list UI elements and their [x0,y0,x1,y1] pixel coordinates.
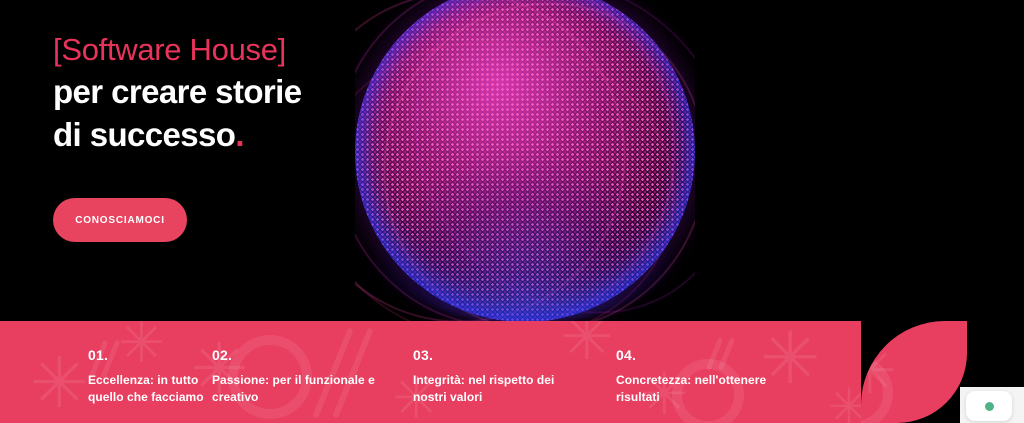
value-item-number: 03. [413,347,611,363]
hero-kicker: [Software House] [53,30,383,70]
chat-widget-button[interactable] [966,391,1012,421]
value-item-number: 02. [212,347,408,363]
value-item-text: Eccellenza: in tutto quello che facciamo [88,372,205,406]
value-item-text: Integrità: nel rispetto dei nostri valor… [413,372,585,406]
hero-copy: [Software House] per creare storie di su… [53,30,383,156]
online-status-icon [985,402,994,411]
value-item: 04. Concretezza: nell'ottenere risultati [611,321,861,423]
hero-headline-line-2-text: di successo [53,116,235,153]
value-item-number: 01. [88,347,205,363]
values-list: 01. Eccellenza: in tutto quello che facc… [0,321,861,423]
hero-headline-line-2: di successo. [53,113,383,156]
value-item-number: 04. [616,347,861,363]
value-item: 02. Passione: per il funzionale e creati… [205,321,408,423]
particle-sphere-graphic [355,0,695,327]
value-item-text: Passione: per il funzionale e creativo [212,372,384,406]
conosciamoci-button-label: CONOSCIAMOCI [75,215,165,226]
landing-page: [Software House] per creare storie di su… [0,0,1024,423]
value-item: 01. Eccellenza: in tutto quello che facc… [0,321,205,423]
value-item-text: Concretezza: nell'ottenere risultati [616,372,788,406]
conosciamoci-button[interactable]: CONOSCIAMOCI [53,198,187,242]
hero-headline-period: . [235,116,244,153]
value-item: 03. Integrità: nel rispetto dei nostri v… [408,321,611,423]
hero-headline-line-1: per creare storie [53,70,383,113]
values-band: ✳ ✳ ✳ ✳ ✳ ✳ ✳ ✳ 01. Eccellenza: in tutto… [0,321,861,423]
